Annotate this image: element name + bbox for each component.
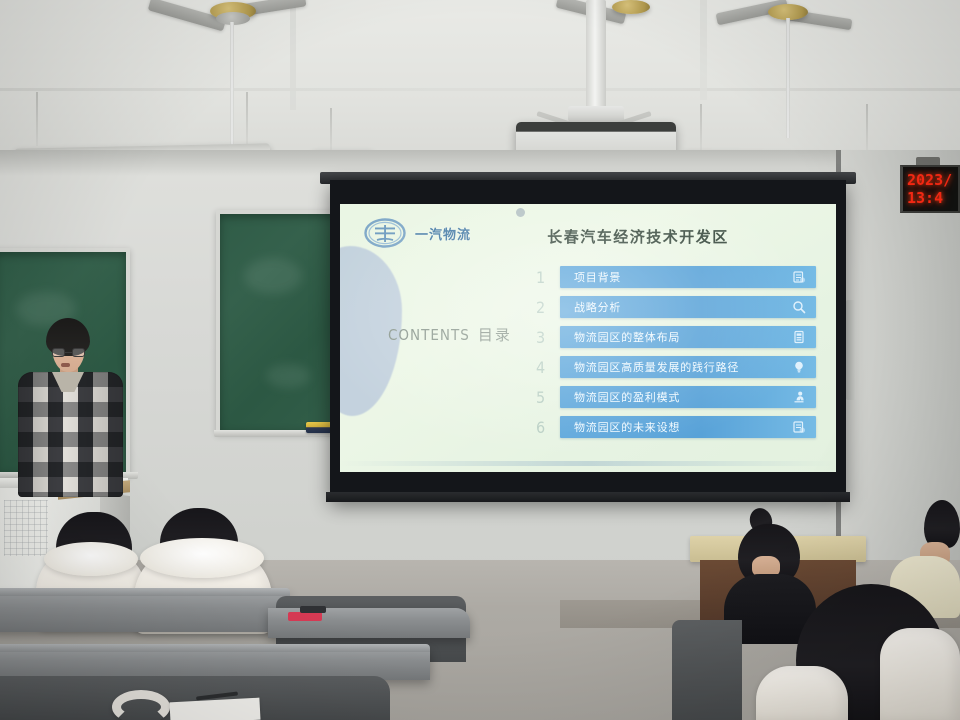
toc-item-2[interactable]: 2 战略分析 <box>536 296 816 318</box>
toc-label: 物流园区的未来设想 <box>574 419 792 435</box>
desk-edge <box>0 644 430 652</box>
lightbulb-icon <box>792 360 806 374</box>
led-wall-clock: 2023/ 13:4 <box>900 165 960 213</box>
toc-label: 物流园区的整体布局 <box>574 329 792 345</box>
light-wire <box>866 104 868 152</box>
slide-title: 长春汽车经济技术开发区 <box>340 226 836 247</box>
toc-item-6[interactable]: 6 物流园区的未来设想 <box>536 416 816 438</box>
contents-label-cn: 目录 <box>478 326 512 344</box>
desk-edge <box>0 588 290 596</box>
chalkboard-center <box>216 210 344 434</box>
toc-item-5[interactable]: 5 物流园区的盈利模式 <box>536 386 816 408</box>
desk-right-side[interactable] <box>672 620 742 720</box>
toc-bar: 物流园区高质量发展的践行路径 <box>560 356 816 378</box>
search-icon <box>792 300 806 314</box>
toc-bar: 战略分析 <box>560 296 816 318</box>
person-growth-icon <box>792 390 806 404</box>
projection-screen: 一汽物流 长春汽车经济技术开发区 CONTENTS目录 1 项目背景 <box>330 180 846 500</box>
ceiling-seam <box>0 88 960 91</box>
light-wire <box>36 92 38 146</box>
toc-label: 战略分析 <box>574 299 792 315</box>
classroom-scene: 2023/ 13:4 <box>0 0 960 720</box>
toc-item-1[interactable]: 1 项目背景 <box>536 266 816 288</box>
contents-label-en: CONTENTS <box>388 326 470 344</box>
contents-label: CONTENTS目录 <box>388 324 512 345</box>
toc-label: 项目背景 <box>574 269 792 285</box>
slide-footer-line <box>340 461 836 466</box>
clock-date-line: 2023/ <box>903 171 958 189</box>
toc-number: 4 <box>536 358 560 377</box>
light-wire <box>330 108 332 152</box>
presentation-slide: 一汽物流 长春汽车经济技术开发区 CONTENTS目录 1 项目背景 <box>340 204 836 472</box>
projector-mount-pole <box>586 0 606 112</box>
student-coat <box>756 666 848 720</box>
ceiling-beam-left <box>290 0 296 110</box>
light-wire <box>246 92 248 146</box>
toc-number: 2 <box>536 298 560 317</box>
toc-bar: 物流园区的整体布局 <box>560 326 816 348</box>
toc-item-3[interactable]: 3 物流园区的整体布局 <box>536 326 816 348</box>
desk-row-back-left[interactable] <box>0 592 290 632</box>
wall-mounted-strip <box>846 300 856 400</box>
student-coat-fur-hood <box>44 542 138 576</box>
toc-bar: 物流园区的盈利模式 <box>560 386 816 408</box>
headphones[interactable] <box>112 690 170 720</box>
presenter-glasses <box>52 348 85 357</box>
projector-mount-plate <box>568 106 624 122</box>
slide-decorative-dot <box>516 208 525 217</box>
document-check-icon <box>792 420 806 434</box>
light-wire <box>700 104 702 152</box>
toc-bar: 物流园区的未来设想 <box>560 416 816 438</box>
toc-bar: 项目背景 <box>560 266 816 288</box>
toc-number: 6 <box>536 418 560 437</box>
toc-number: 1 <box>536 268 560 287</box>
toc-label: 物流园区高质量发展的践行路径 <box>574 359 792 375</box>
clock-time-line: 13:4 <box>903 189 958 207</box>
slide-contents-list: 1 项目背景 2 战略分析 <box>536 266 816 446</box>
clock-bracket <box>916 157 940 165</box>
screen-bottom-bar <box>326 492 850 502</box>
paper-sheet[interactable] <box>169 698 260 720</box>
presenter-mouth <box>61 363 70 367</box>
document-icon <box>792 270 806 284</box>
student-coat-fur-hood <box>140 538 264 578</box>
podium-speaker-grille <box>4 500 48 556</box>
toc-number: 3 <box>536 328 560 347</box>
toc-label: 物流园区的盈利模式 <box>574 389 792 405</box>
layout-grid-icon <box>792 330 806 344</box>
toc-number: 5 <box>536 388 560 407</box>
desk-item-red[interactable] <box>288 612 322 621</box>
desk-item-dark[interactable] <box>300 606 326 613</box>
student-coat <box>880 628 960 720</box>
toc-item-4[interactable]: 4 物流园区高质量发展的践行路径 <box>536 356 816 378</box>
ceiling-beam-right <box>700 0 707 100</box>
